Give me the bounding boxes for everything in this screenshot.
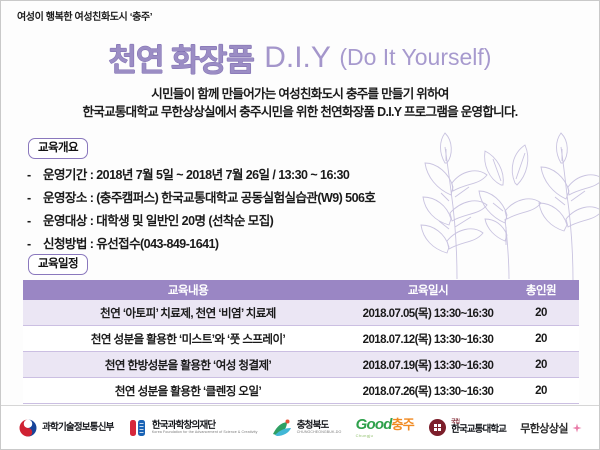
- logo-label-city: 충주: [392, 417, 414, 432]
- table-row: 천연 성분을 활용한 ‘클렌징 오일’ 2018.07.26(목) 13:30~…: [23, 378, 579, 404]
- sponsor-logo-strip: 과학기술정보통신부 한국과학창의재단 Korea Foundation for …: [1, 405, 599, 449]
- logo-label-good: Good: [356, 416, 392, 433]
- logo-chungcheongbukdo: 충청북도 CHUNGCHEONGBUK-DO: [272, 418, 342, 438]
- eyebrow-tagline: 여성이 행복한 여성친화도시 ‘충주’: [17, 8, 152, 23]
- logo-text: Good충주 Chungju: [356, 417, 414, 438]
- section-chip-overview: 교육개요: [28, 138, 88, 159]
- cell-content: 천연 성분을 활용한 ‘클렌징 오일’: [23, 378, 353, 404]
- logo-text: 한국과학창의재단 Korea Foundation for the Advanc…: [152, 421, 258, 435]
- logo-wordmark: Good충주: [356, 417, 414, 434]
- kncu-emblem-icon: [428, 418, 447, 437]
- logo-good-chungju: Good충주 Chungju: [356, 417, 414, 438]
- section-chip-schedule: 교육일정: [28, 254, 88, 275]
- cell-count: 20: [503, 352, 579, 378]
- cell-count: 20: [503, 378, 579, 404]
- cell-content: 천연 한방성분을 활용한 ‘여성 청결제’: [23, 352, 353, 378]
- overview-list: - 운영기간 : 2018년 7월 5일 ~ 2018년 7월 26일 / 13…: [27, 164, 375, 256]
- table-header-row: 교육내용 교육일시 총인원: [23, 280, 579, 300]
- overview-item-label: 신청방법 : 유선접수(043-849-1641): [43, 233, 219, 252]
- logo-kofac: 한국과학창의재단 Korea Foundation for the Advanc…: [128, 418, 258, 438]
- page-title: 천연 화장품 D.I.Y (Do It Yourself): [1, 35, 599, 80]
- logo-text: 국립 한국교통대학교: [451, 420, 506, 435]
- intro-line-2: 한국교통대학교 무한상상실에서 충주시민을 위한 천연화장품 D.I.Y 프로그…: [1, 103, 599, 121]
- cell-content: 천연 성분을 활용한 ‘미스트’와 ‘풋 스프레이’: [23, 326, 353, 352]
- title-korean: 천연 화장품: [109, 43, 254, 78]
- cell-count: 20: [503, 326, 579, 352]
- column-header-count: 총인원: [503, 280, 579, 300]
- overview-item-label: 운영장소 : (충주캠퍼스) 한국교통대학교 공동실험실습관(W9) 506호: [43, 187, 375, 206]
- table-row: 천연 ‘아토피’ 치료제, 천연 ‘비염’ 치료제 2018.07.05(목) …: [23, 300, 579, 326]
- cell-datetime: 2018.07.26(목) 13:30~16:30: [353, 378, 503, 404]
- logo-label: 과학기술정보통신부: [42, 423, 113, 433]
- poster-root: 여성이 행복한 여성친화도시 ‘충주’ 천연 화장품 D.I.Y (Do It …: [0, 0, 600, 450]
- logo-kncu: 국립 한국교통대학교: [428, 418, 506, 437]
- cell-count: 20: [503, 300, 579, 326]
- herb-leaves-illustration: [405, 129, 600, 289]
- overview-item-apply: - 신청방법 : 유선접수(043-849-1641): [27, 233, 375, 252]
- cell-content: 천연 ‘아토피’ 치료제, 천연 ‘비염’ 치료제: [23, 300, 353, 326]
- overview-item-audience: - 운영대상 : 대학생 및 일반인 20명 (선착순 모집): [27, 210, 375, 229]
- logo-label: 무한상상실: [520, 420, 568, 436]
- logo-text: 충청북도 CHUNGCHEONGBUK-DO: [297, 421, 342, 435]
- intro-line-1: 시민들이 함께 만들어가는 여성친화도시 충주를 만들기 위하여: [1, 85, 599, 103]
- schedule-table: 교육내용 교육일시 총인원 천연 ‘아토피’ 치료제, 천연 ‘비염’ 치료제 …: [23, 280, 579, 404]
- table-row: 천연 한방성분을 활용한 ‘여성 청결제’ 2018.07.19(목) 13:3…: [23, 352, 579, 378]
- title-expansion: (Do It Yourself): [339, 44, 491, 70]
- cell-datetime: 2018.07.19(목) 13:30~16:30: [353, 352, 503, 378]
- overview-item-label: 운영기간 : 2018년 7월 5일 ~ 2018년 7월 26일 / 13:3…: [43, 164, 349, 183]
- logo-text: 과학기술정보통신부: [42, 423, 113, 433]
- column-header-datetime: 교육일시: [353, 280, 503, 300]
- logo-subtitle: CHUNGCHEONGBUK-DO: [297, 431, 342, 435]
- bullet-dash: -: [27, 214, 43, 228]
- kofac-mark-icon: [128, 418, 148, 438]
- column-header-content: 교육내용: [23, 280, 353, 300]
- cell-datetime: 2018.07.12(목) 13:30~16:30: [353, 326, 503, 352]
- bullet-dash: -: [27, 237, 43, 251]
- overview-item-label: 운영대상 : 대학생 및 일반인 20명 (선착순 모집): [43, 210, 273, 229]
- overview-item-period: - 운영기간 : 2018년 7월 5일 ~ 2018년 7월 26일 / 13…: [27, 164, 375, 183]
- logo-label: 한국교통대학교: [451, 425, 506, 435]
- sparkle-icon: [572, 423, 582, 433]
- taegeuk-icon: [18, 418, 38, 438]
- logo-muhan-sangsangsil: 무한상상실: [520, 420, 582, 436]
- table-row: 천연 성분을 활용한 ‘미스트’와 ‘풋 스프레이’ 2018.07.12(목)…: [23, 326, 579, 352]
- bullet-dash: -: [27, 168, 43, 182]
- bullet-dash: -: [27, 191, 43, 205]
- cell-datetime: 2018.07.05(목) 13:30~16:30: [353, 300, 503, 326]
- logo-subtitle: Korea Foundation for the Advancement of …: [152, 431, 258, 435]
- intro-paragraph: 시민들이 함께 만들어가는 여성친화도시 충주를 만들기 위하여 한국교통대학교…: [1, 85, 599, 121]
- title-diy: D.I.Y: [264, 41, 331, 74]
- logo-subtitle: Chungju: [356, 434, 414, 438]
- logo-msit: 과학기술정보통신부: [18, 418, 113, 438]
- overview-item-location: - 운영장소 : (충주캠퍼스) 한국교통대학교 공동실험실습관(W9) 506…: [27, 187, 375, 206]
- mountain-icon: [272, 418, 293, 438]
